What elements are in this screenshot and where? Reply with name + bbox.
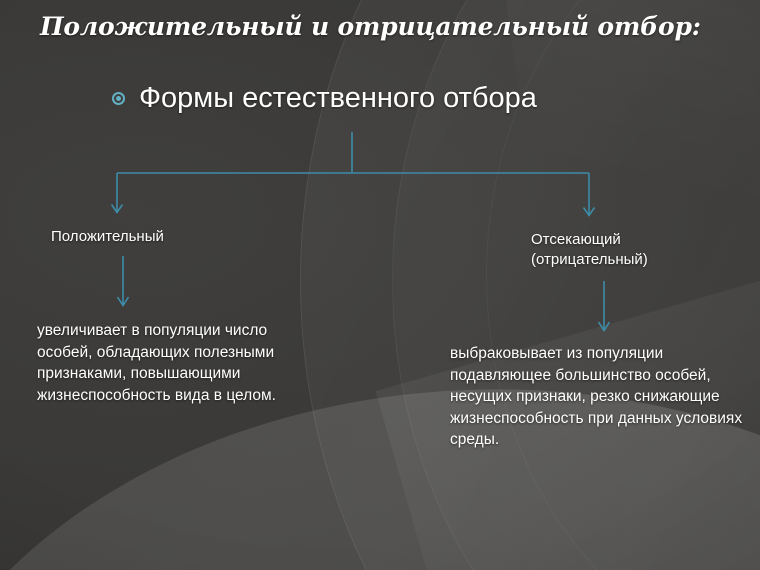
branch-label-positive: Положительный bbox=[51, 227, 164, 247]
branch-description-negative: выбраковывает из популяции подавляющее б… bbox=[450, 343, 750, 451]
slide-canvas: Положительный и отрицательный отбор: Фор… bbox=[0, 0, 760, 570]
diagram-connectors bbox=[0, 0, 760, 570]
slide-content: Положительный и отрицательный отбор: Фор… bbox=[0, 0, 760, 570]
branch-description-positive: увеличивает в популяции число особей, об… bbox=[37, 320, 307, 406]
branch-label-negative: Отсекающий (отрицательный) bbox=[531, 230, 648, 270]
